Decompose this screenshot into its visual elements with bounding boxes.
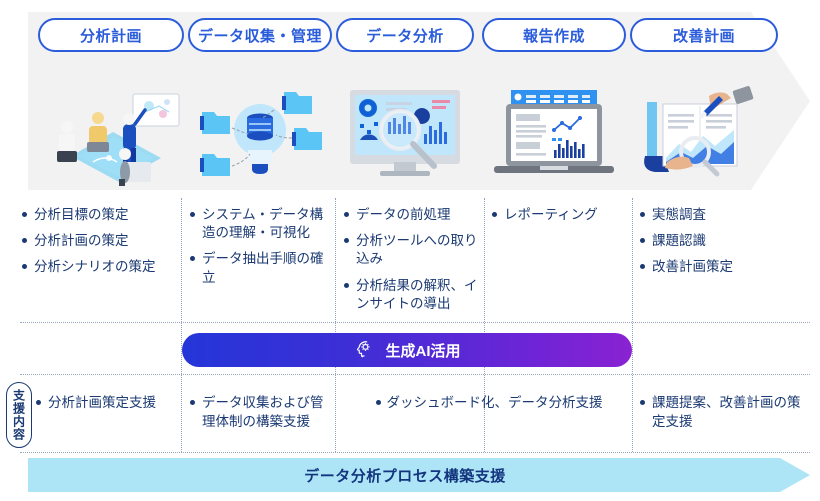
support-column-improvement-planning: 課題提案、改善計画の策定支援 xyxy=(640,394,808,432)
support-column-data-analysis: ダッシュボード化、データ分析支援 xyxy=(344,394,634,413)
process-diagram: 分析計画 データ収集・管理 データ分析 報告作成 改善計画 xyxy=(0,0,820,501)
ai-brain-gear-icon xyxy=(353,339,375,361)
phase-pill-label: データ収集・管理 xyxy=(198,25,322,46)
task-column-report-creation: レポーティング xyxy=(492,200,632,318)
task-item: 改善計画策定 xyxy=(640,258,800,276)
phase-pill-label: データ分析 xyxy=(366,25,444,46)
row-divider xyxy=(20,374,810,375)
task-column-improvement-planning: 実態調査 課題認識 改善計画策定 xyxy=(640,200,800,318)
phase-pill-analysis-planning[interactable]: 分析計画 xyxy=(38,18,184,52)
task-item: 課題認識 xyxy=(640,232,800,250)
task-bullet-row: 分析目標の策定 分析計画の策定 分析シナリオの策定 システム・データ構造の理解・… xyxy=(0,200,820,318)
phase-pill-report-creation[interactable]: 報告作成 xyxy=(482,18,626,52)
phase-pill-row: 分析計画 データ収集・管理 データ分析 報告作成 改善計画 xyxy=(0,18,820,58)
data-collection-illustration xyxy=(188,78,332,190)
task-column-data-collection: システム・データ構造の理解・可視化 データ抽出手順の確立 xyxy=(190,200,336,318)
support-column-data-collection: データ収集および管理体制の構築支援 xyxy=(190,394,336,432)
generative-ai-label: 生成AI活用 xyxy=(385,340,460,361)
support-column-analysis-planning: 分析計画策定支援 xyxy=(36,394,180,413)
task-item: 分析ツールへの取り込み xyxy=(344,232,484,268)
bottom-summary-banner: データ分析プロセス構築支援 xyxy=(28,458,810,492)
task-item: レポーティング xyxy=(492,206,632,224)
phase-pill-data-collection[interactable]: データ収集・管理 xyxy=(188,18,332,52)
task-item: 分析計画の策定 xyxy=(22,232,180,250)
task-item: 分析シナリオの策定 xyxy=(22,258,180,276)
bottom-summary-label: データ分析プロセス構築支援 xyxy=(304,465,506,486)
improvement-planning-illustration xyxy=(632,78,780,190)
task-item: 分析結果の解釈、インサイトの導出 xyxy=(344,277,484,313)
task-item: データ抽出手順の確立 xyxy=(190,250,336,286)
generative-ai-bar[interactable]: 生成AI活用 xyxy=(182,333,632,367)
support-item: 分析計画策定支援 xyxy=(36,394,180,413)
support-item: 課題提案、改善計画の策定支援 xyxy=(640,394,808,432)
row-divider xyxy=(20,452,810,453)
report-creation-illustration xyxy=(482,78,626,190)
support-item: ダッシュボード化、データ分析支援 xyxy=(344,394,634,413)
phase-pill-label: 改善計画 xyxy=(673,25,735,46)
analysis-planning-illustration xyxy=(38,78,184,190)
task-item: システム・データ構造の理解・可視化 xyxy=(190,206,336,242)
task-column-analysis-planning: 分析目標の策定 分析計画の策定 分析シナリオの策定 xyxy=(22,200,180,318)
phase-pill-label: 報告作成 xyxy=(523,25,585,46)
row-divider xyxy=(20,322,810,323)
task-item: 実態調査 xyxy=(640,206,800,224)
phase-pill-improvement-planning[interactable]: 改善計画 xyxy=(630,18,778,52)
support-vertical-label: 支援内容 xyxy=(6,382,32,448)
support-content-row: 支援内容 分析計画策定支援 データ収集および管理体制の構築支援 ダッシュボード化… xyxy=(0,380,820,450)
phase-pill-data-analysis[interactable]: データ分析 xyxy=(336,18,474,52)
data-analysis-illustration xyxy=(336,78,474,190)
support-item: データ収集および管理体制の構築支援 xyxy=(190,394,336,432)
phase-pill-label: 分析計画 xyxy=(80,25,142,46)
task-item: 分析目標の策定 xyxy=(22,206,180,224)
task-item: データの前処理 xyxy=(344,206,484,224)
task-column-data-analysis: データの前処理 分析ツールへの取り込み 分析結果の解釈、インサイトの導出 xyxy=(344,200,484,318)
